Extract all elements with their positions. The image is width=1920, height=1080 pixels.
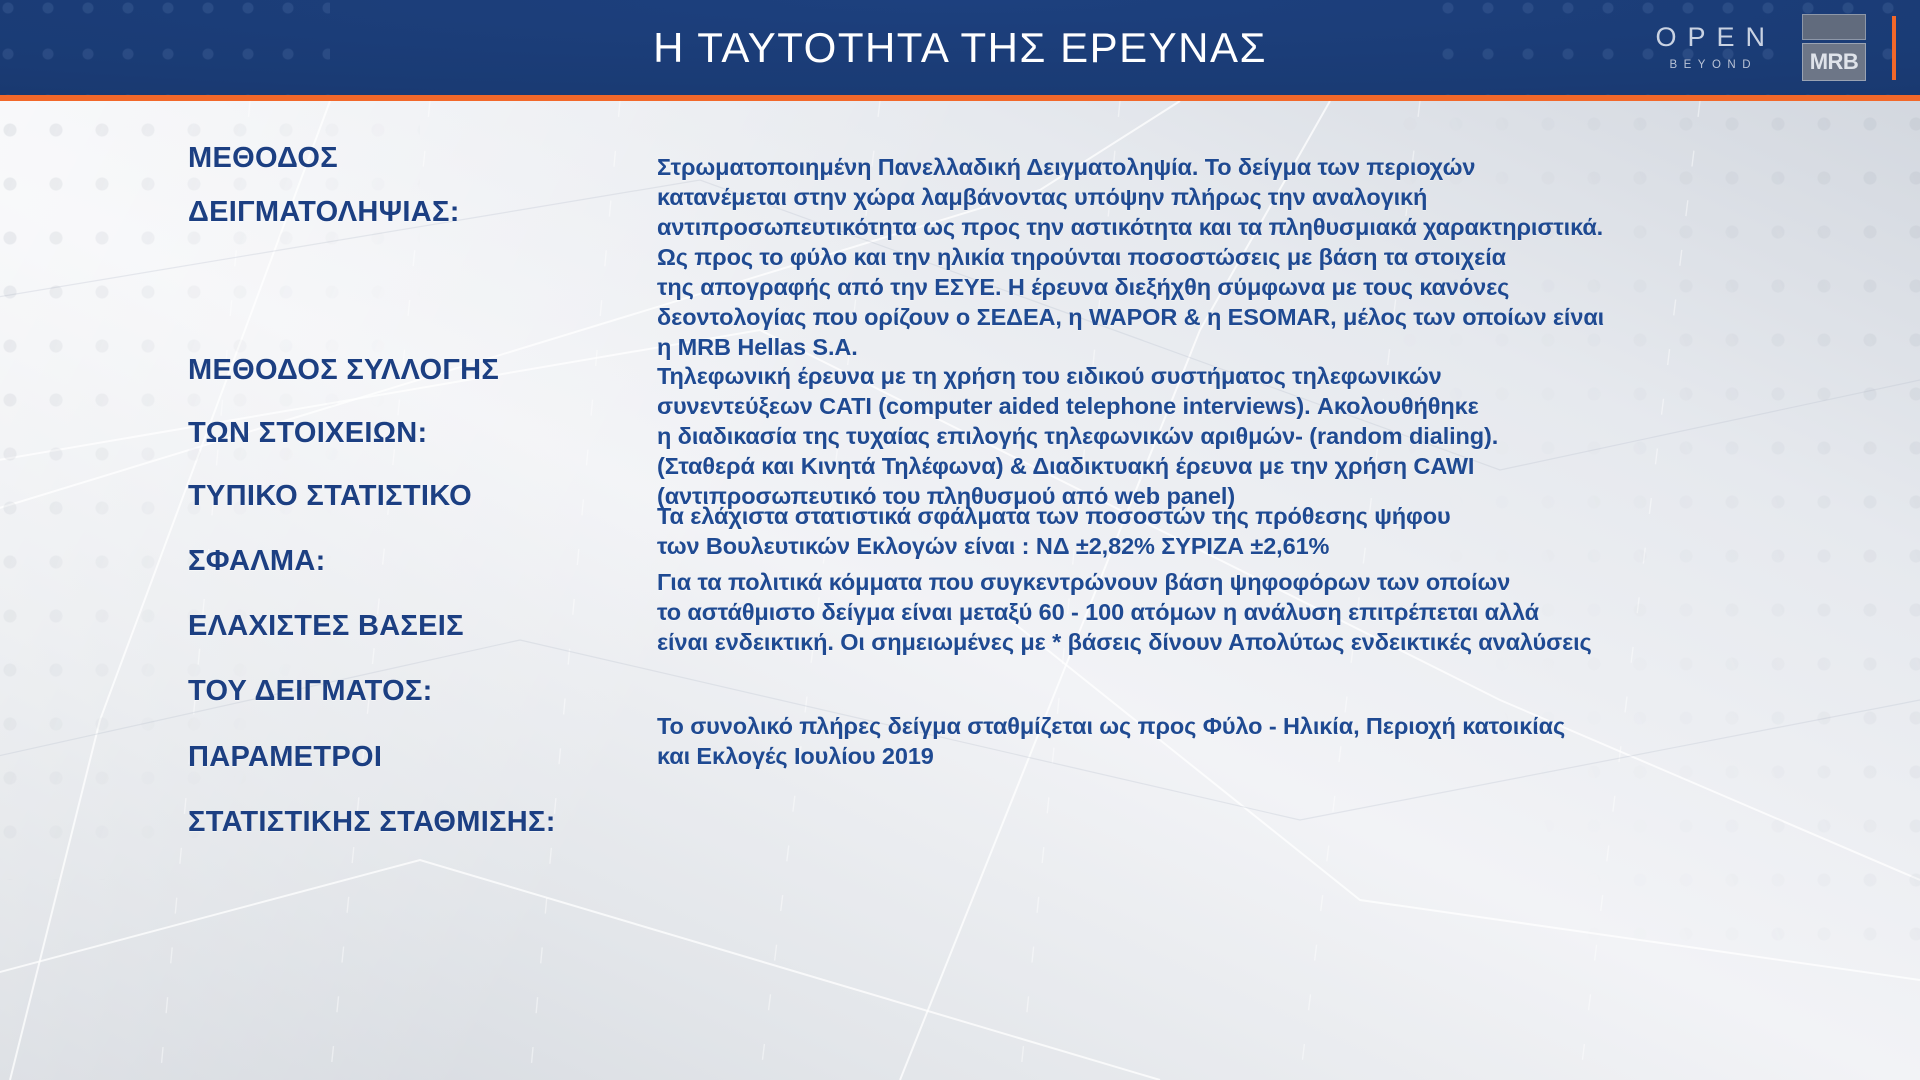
label-sampling-method-line2: ΔΕΙΓΜΑΤΟΛΗΨΙΑΣ: xyxy=(188,196,460,229)
open-beyond-tagline: BEYOND xyxy=(1663,60,1757,72)
slide-header: Η ΤΑΥΤΟΤΗΤΑ ΤΗΣ ΕΡΕΥΝΑΣ OPEN BEYOND MRB xyxy=(0,0,1920,101)
label-weighting-parameters-line1: ΠΑΡΑΜΕΤΡΟΙ xyxy=(188,741,382,774)
label-sampling-method-line1: ΜΕΘΟΔΟΣ xyxy=(188,142,338,175)
open-beyond-logo: OPEN BEYOND xyxy=(1644,24,1776,72)
text-weighting-parameters: Το συνολικό πλήρες δείγμα σταθμίζεται ως… xyxy=(657,711,1565,771)
slide-root: Η ΤΑΥΤΟΤΗΤΑ ΤΗΣ ΕΡΕΥΝΑΣ OPEN BEYOND MRB … xyxy=(0,0,1920,1080)
label-collection-method-line2: ΤΩΝ ΣΤΟΙΧΕΙΩΝ: xyxy=(188,417,427,450)
mrb-logo: MRB xyxy=(1802,14,1866,81)
text-collection-method: Τηλεφωνική έρευνα με τη χρήση του ειδικο… xyxy=(657,361,1498,511)
text-statistical-error: Τα ελάχιστα στατιστικά σφάλματα των ποσο… xyxy=(657,501,1451,561)
logo-group: OPEN BEYOND MRB xyxy=(1644,0,1896,95)
mrb-logo-bar xyxy=(1802,14,1866,40)
page-title: Η ΤΑΥΤΟΤΗΤΑ ΤΗΣ ΕΡΕΥΝΑΣ xyxy=(0,0,1920,95)
label-weighting-parameters-line2: ΣΤΑΤΙΣΤΙΚΗΣ ΣΤΑΘΜΙΣΗΣ: xyxy=(188,806,556,839)
slide-content: ΜΕΘΟΔΟΣ ΔΕΙΓΜΑΤΟΛΗΨΙΑΣ: Στρωματοποιημένη… xyxy=(0,101,1920,1080)
label-statistical-error-line1: ΤΥΠΙΚΟ ΣΤΑΤΙΣΤΙΚΟ xyxy=(188,480,472,513)
text-sampling-method: Στρωματοποιημένη Πανελλαδική Δειγματοληψ… xyxy=(657,152,1604,362)
label-statistical-error-line2: ΣΦΑΛΜΑ: xyxy=(188,545,326,578)
mrb-wordmark: MRB xyxy=(1802,43,1866,81)
open-beyond-wordmark: OPEN xyxy=(1644,24,1776,51)
label-collection-method-line1: ΜΕΘΟΔΟΣ ΣΥΛΛΟΓΗΣ xyxy=(188,354,499,387)
label-minimum-bases-line1: ΕΛΑΧΙΣΤΕΣ ΒΑΣΕΙΣ xyxy=(188,610,464,643)
header-accent-bar xyxy=(1892,16,1896,80)
label-minimum-bases-line2: ΤΟΥ ΔΕΙΓΜΑΤΟΣ: xyxy=(188,675,433,708)
text-minimum-bases: Για τα πολιτικά κόμματα που συγκεντρώνου… xyxy=(657,567,1592,657)
